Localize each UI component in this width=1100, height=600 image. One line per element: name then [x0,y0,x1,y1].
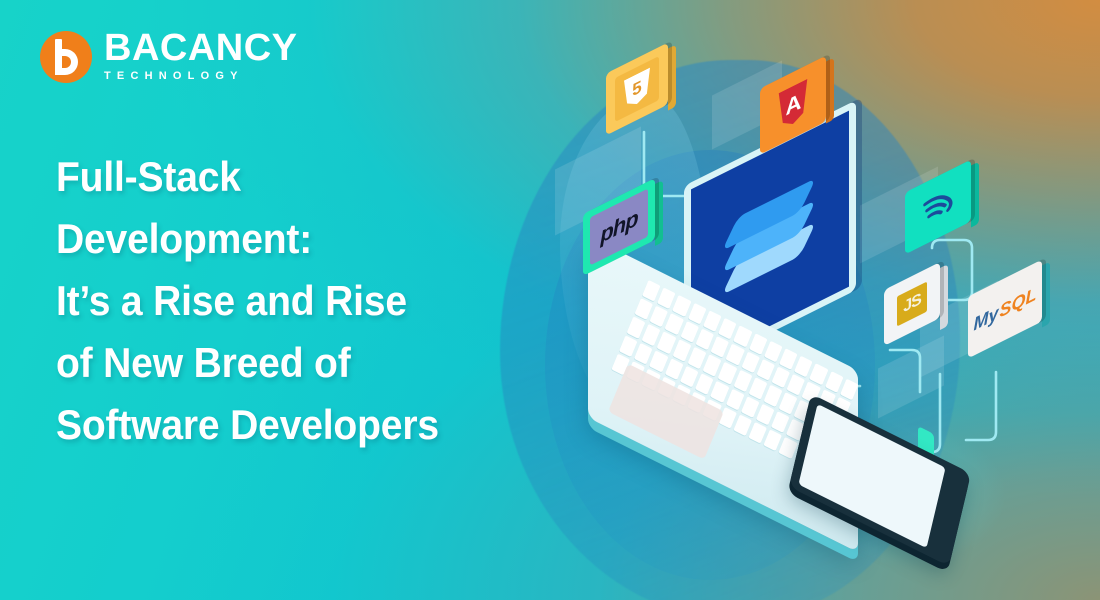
brand-logo-text: BACANCY TECHNOLOGY [104,30,298,85]
brand-logo[interactable]: BACANCY TECHNOLOGY [40,30,298,85]
bacancy-b-logo-icon [40,31,92,83]
headline-line-2: Development: [56,208,540,270]
headline-line-4: of New Breed of [56,332,540,394]
headline: Full-Stack Development: It’s a Rise and … [56,146,576,456]
card-side [668,45,676,111]
card-side [655,180,663,246]
mysql-icon-suffix: SQL [1000,283,1037,322]
full-stack-layers-icon [730,181,810,295]
mysql-icon-prefix: My [973,302,998,335]
brand-tagline: TECHNOLOGY [104,68,298,85]
html5-icon: 5 [624,68,650,111]
card-side [826,58,834,124]
headline-line-1: Full-Stack [56,146,540,208]
headline-line-3: It’s a Rise and Rise [56,270,540,332]
php-icon: php [600,205,637,250]
marketing-banner: BACANCY TECHNOLOGY Full-Stack Developmen… [0,0,1100,600]
card-side [971,162,979,228]
brand-name: BACANCY [104,30,298,66]
card-side [940,264,948,330]
card-side [1042,262,1050,328]
headline-line-5: Software Developers [56,394,540,456]
